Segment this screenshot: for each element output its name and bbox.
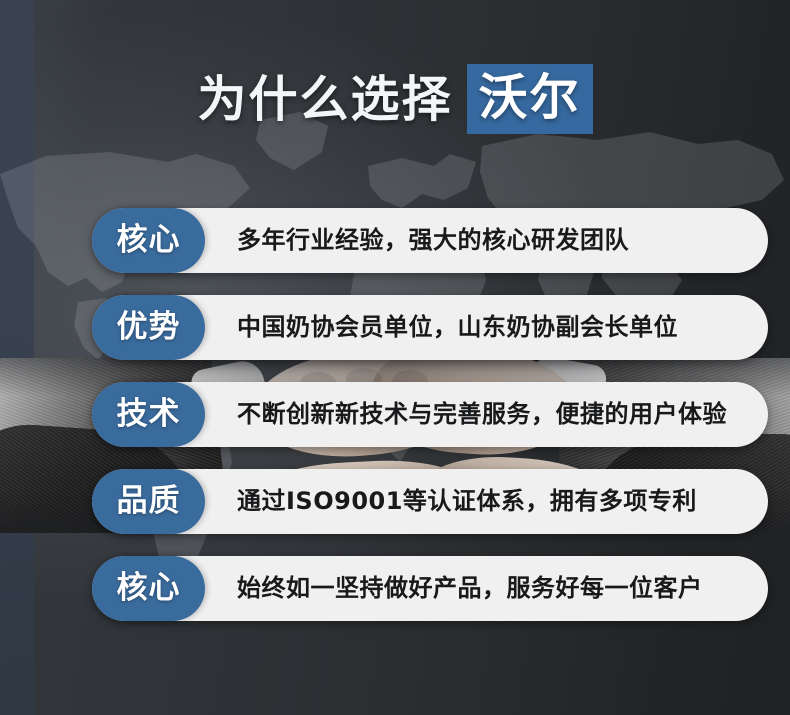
feature-text-container: 始终如一坚持做好产品，服务好每一位客户 <box>205 556 768 621</box>
feature-badge: 核心 <box>92 556 205 621</box>
feature-description: 不断创新新技术与完善服务，便捷的用户体验 <box>237 401 727 427</box>
page-title-prefix: 为什么选择 <box>197 75 452 124</box>
poster-canvas: 为什么选择 沃尔 核心 多年行业经验，强大的核心研发团队 优势 中国奶协会员单位… <box>0 0 790 715</box>
page-title-highlight: 沃尔 <box>467 64 593 134</box>
feature-row[interactable]: 技术 不断创新新技术与完善服务，便捷的用户体验 <box>92 382 768 447</box>
feature-text-container: 中国奶协会员单位，山东奶协副会长单位 <box>205 295 768 360</box>
feature-badge-label: 优势 <box>117 312 181 343</box>
feature-text-container: 不断创新新技术与完善服务，便捷的用户体验 <box>205 382 768 447</box>
feature-badge: 技术 <box>92 382 205 447</box>
feature-badge: 核心 <box>92 208 205 273</box>
feature-badge-label: 核心 <box>117 225 181 256</box>
feature-badge-label: 技术 <box>117 399 181 430</box>
feature-list: 核心 多年行业经验，强大的核心研发团队 优势 中国奶协会员单位，山东奶协副会长单… <box>92 208 768 621</box>
feature-description: 中国奶协会员单位，山东奶协副会长单位 <box>237 314 678 340</box>
feature-badge-label: 核心 <box>117 573 181 604</box>
feature-badge: 优势 <box>92 295 205 360</box>
feature-row[interactable]: 品质 通过ISO9001等认证体系，拥有多项专利 <box>92 469 768 534</box>
feature-text-container: 通过ISO9001等认证体系，拥有多项专利 <box>205 469 768 534</box>
feature-description: 通过ISO9001等认证体系，拥有多项专利 <box>237 488 697 514</box>
feature-row[interactable]: 核心 多年行业经验，强大的核心研发团队 <box>92 208 768 273</box>
feature-description: 多年行业经验，强大的核心研发团队 <box>237 227 629 253</box>
feature-description: 始终如一坚持做好产品，服务好每一位客户 <box>237 575 703 601</box>
page-title: 为什么选择 沃尔 <box>0 62 790 136</box>
feature-badge: 品质 <box>92 469 205 534</box>
feature-row[interactable]: 核心 始终如一坚持做好产品，服务好每一位客户 <box>92 556 768 621</box>
feature-badge-label: 品质 <box>117 486 181 517</box>
feature-text-container: 多年行业经验，强大的核心研发团队 <box>205 208 768 273</box>
feature-row[interactable]: 优势 中国奶协会员单位，山东奶协副会长单位 <box>92 295 768 360</box>
